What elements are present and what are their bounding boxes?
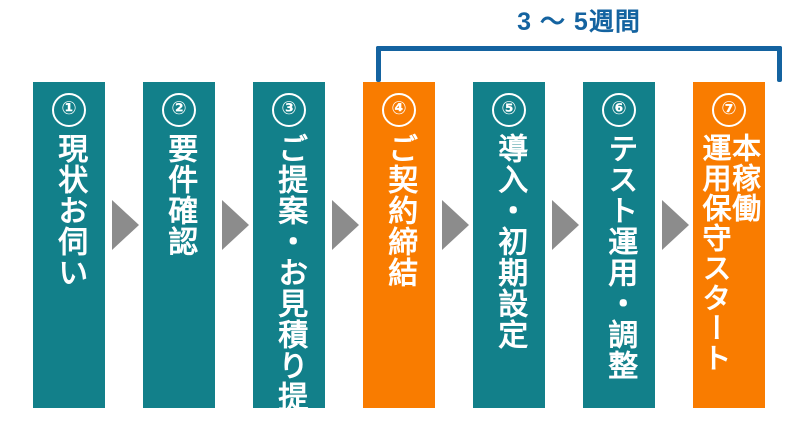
duration-label: 3 〜 5週間 [376,5,782,39]
step-label-column: 導入・初期設定 [494,133,525,350]
step-number-badge: ⑥ [602,93,636,127]
process-step-2[interactable]: ②要件確認 [143,82,215,408]
process-step-4[interactable]: ④ご契約締結 [363,82,435,408]
bracket-right-tick [777,46,782,82]
step-label-column: ご提案・お見積り提示 [274,133,305,408]
step-number-badge: ⑤ [492,93,526,127]
flow-arrow-1-to-2 [112,200,139,250]
step-label-column: 本稼働 [729,133,759,223]
step-label-group: テスト運用・調整 [583,133,655,408]
step-label-group: ご契約締結 [363,133,435,408]
process-step-5[interactable]: ⑤導入・初期設定 [473,82,545,408]
step-label-column: ご契約締結 [384,133,415,288]
step-label-group: 導入・初期設定 [473,133,545,408]
step-number-badge: ⑦ [712,93,746,127]
process-flow-diagram: 3 〜 5週間 ①現状お伺い②要件確認③ご提案・お見積り提示④ご契約締結⑤導入・… [0,0,800,428]
step-label-group: 現状お伺い [33,133,105,408]
bracket-left-tick [376,46,381,82]
flow-arrow-5-to-6 [552,200,579,250]
step-number-badge: ② [162,93,196,127]
flow-arrow-6-to-7 [662,200,689,250]
step-number-badge: ④ [382,93,416,127]
step-number-badge: ③ [272,93,306,127]
step-label-column: 要件確認 [164,133,195,257]
step-label-column: テスト運用・調整 [604,133,635,381]
step-label-group: 要件確認 [143,133,215,408]
flow-arrow-4-to-5 [442,200,469,250]
duration-bracket [376,46,782,84]
process-step-1[interactable]: ①現状お伺い [33,82,105,408]
step-label-group: 本稼働運用保守スタート [693,133,765,408]
process-step-3[interactable]: ③ご提案・お見積り提示 [253,82,325,408]
step-label-group: ご提案・お見積り提示 [253,133,325,408]
step-label-column: 運用保守スタート [699,133,729,373]
process-step-6[interactable]: ⑥テスト運用・調整 [583,82,655,408]
step-label-column: 現状お伺い [54,133,85,288]
process-step-7[interactable]: ⑦本稼働運用保守スタート [693,82,765,408]
flow-arrow-2-to-3 [222,200,249,250]
step-number-badge: ① [52,93,86,127]
bracket-top-line [376,46,782,51]
flow-arrow-3-to-4 [332,200,359,250]
